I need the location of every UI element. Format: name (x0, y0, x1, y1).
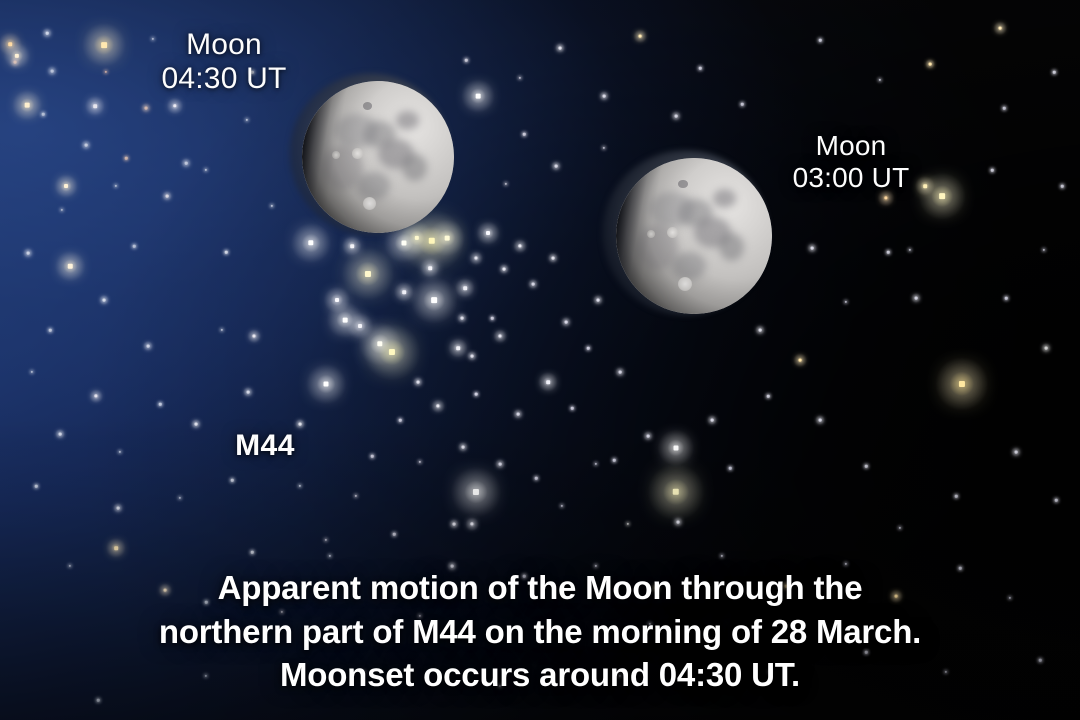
sky-scene: Moon 04:30 UT Moon 03:00 UT M44 Apparent… (0, 0, 1080, 720)
sky-vignette (0, 0, 1080, 720)
